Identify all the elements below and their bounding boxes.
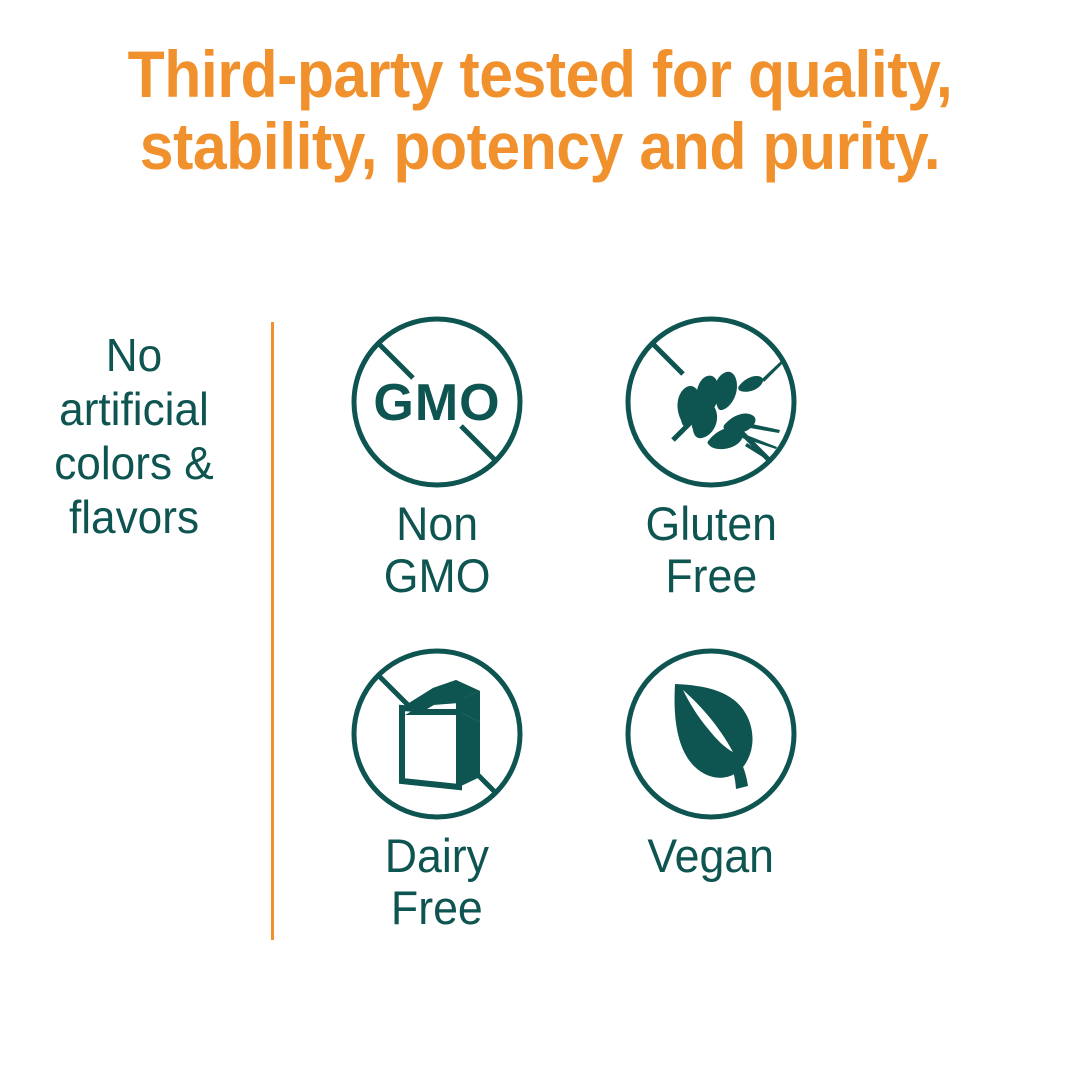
left-text-line-3: colors &: [25, 436, 244, 490]
badge-label-line-2: Free: [645, 550, 777, 602]
badge-vegan: Vegan: [574, 644, 848, 934]
vegan-leaf-icon: [621, 644, 801, 824]
badge-non-gmo: GMO Non GMO: [300, 312, 574, 602]
badge-label-line-2: Free: [385, 882, 489, 934]
badge-label-line-1: Dairy: [385, 830, 489, 882]
badge-label-line-1: Vegan: [648, 830, 775, 882]
badge-row-bottom: Dairy Free Vegan: [300, 644, 900, 934]
left-text-line-4: flavors: [25, 490, 244, 544]
badge-row-top: GMO Non GMO: [300, 312, 900, 602]
leaf-glyph: [675, 684, 753, 789]
no-dairy-carton-icon: [347, 644, 527, 824]
left-text-line-2: artificial: [25, 382, 244, 436]
page-headline: Third-party tested for quality, stabilit…: [43, 38, 1037, 182]
wheat-glyph: [678, 361, 783, 461]
badge-label-dairy-free: Dairy Free: [385, 830, 489, 934]
badge-label-line-2: GMO: [384, 550, 491, 602]
badge-label-vegan: Vegan: [648, 830, 775, 882]
badge-dairy-free: Dairy Free: [300, 644, 574, 934]
headline-line-1: Third-party tested for quality,: [43, 38, 1037, 110]
no-artificial-colors-flavors-text: No artificial colors & flavors: [25, 328, 244, 544]
milk-carton-glyph: [402, 680, 480, 787]
badge-label-line-1: Non: [384, 498, 491, 550]
certification-badge-grid: GMO Non GMO: [300, 312, 900, 934]
badge-gluten-free: Gluten Free: [574, 312, 848, 602]
no-gluten-wheat-icon: [621, 312, 801, 492]
vertical-divider: [271, 322, 274, 940]
left-text-line-1: No: [25, 328, 244, 382]
badge-label-non-gmo: Non GMO: [384, 498, 491, 602]
no-gmo-icon: GMO: [347, 312, 527, 492]
headline-line-2: stability, potency and purity.: [43, 110, 1037, 182]
badge-label-line-1: Gluten: [645, 498, 777, 550]
gmo-letters: GMO: [373, 374, 500, 432]
badge-label-gluten-free: Gluten Free: [645, 498, 777, 602]
